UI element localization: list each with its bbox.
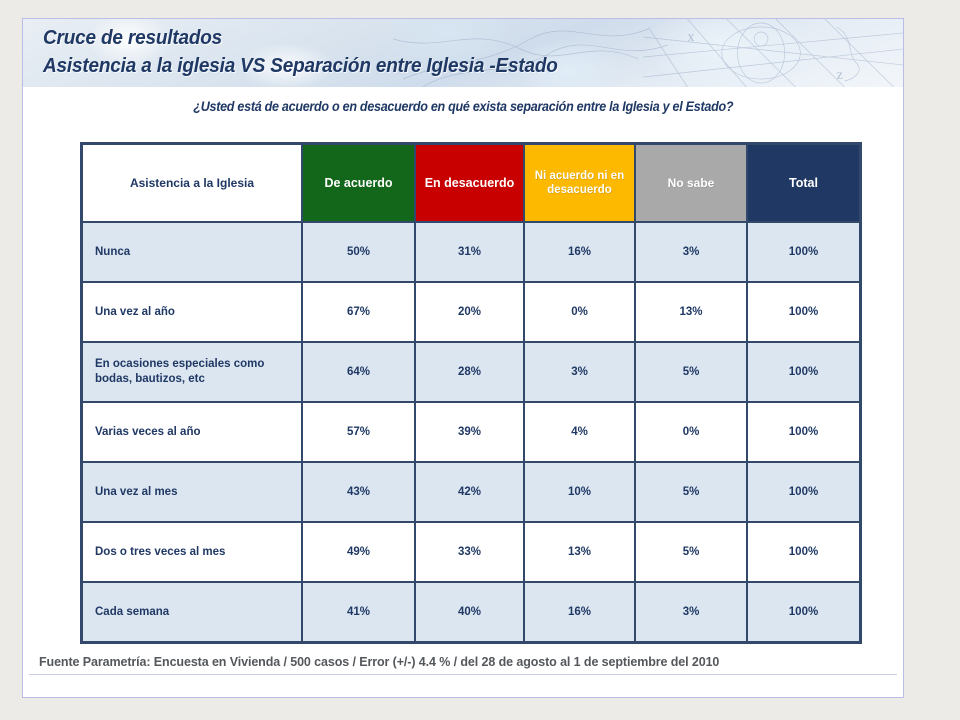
banner-title-line-2: Asistencia a la iglesia VS Separación en… <box>43 52 558 80</box>
cell-ni-acuerdo: 0% <box>524 282 635 342</box>
cell-no-sabe: 3% <box>635 582 747 642</box>
cell-de-acuerdo: 57% <box>302 402 415 462</box>
cell-en-desacuerdo: 39% <box>415 402 524 462</box>
table-header: Asistencia a la Iglesia De acuerdo En de… <box>82 144 860 222</box>
cell-de-acuerdo: 49% <box>302 522 415 582</box>
cell-total: 100% <box>747 582 860 642</box>
results-table-container: Asistencia a la Iglesia De acuerdo En de… <box>80 142 858 644</box>
cell-no-sabe: 5% <box>635 342 747 402</box>
cell-de-acuerdo: 64% <box>302 342 415 402</box>
cell-total: 100% <box>747 522 860 582</box>
survey-question-text: ¿Usted está de acuerdo o en desacuerdo e… <box>193 99 733 114</box>
cell-de-acuerdo: 43% <box>302 462 415 522</box>
cell-total: 100% <box>747 222 860 282</box>
column-header-no-sabe: No sabe <box>635 144 747 222</box>
cell-no-sabe: 0% <box>635 402 747 462</box>
cell-no-sabe: 5% <box>635 462 747 522</box>
row-label: Una vez al año <box>82 282 302 342</box>
table-row: Nunca 50% 31% 16% 3% 100% <box>82 222 860 282</box>
cell-de-acuerdo: 50% <box>302 222 415 282</box>
row-label: Cada semana <box>82 582 302 642</box>
row-label: Una vez al mes <box>82 462 302 522</box>
title-banner: x z Cruce de resultados Asistencia a la … <box>23 19 903 87</box>
cell-total: 100% <box>747 402 860 462</box>
table-row: Dos o tres veces al mes 49% 33% 13% 5% 1… <box>82 522 860 582</box>
table-header-row: Asistencia a la Iglesia De acuerdo En de… <box>82 144 860 222</box>
cell-ni-acuerdo: 16% <box>524 222 635 282</box>
cell-ni-acuerdo: 16% <box>524 582 635 642</box>
cell-no-sabe: 5% <box>635 522 747 582</box>
table-row: Varias veces al año 57% 39% 4% 0% 100% <box>82 402 860 462</box>
results-table: Asistencia a la Iglesia De acuerdo En de… <box>80 142 862 644</box>
table-row: Una vez al mes 43% 42% 10% 5% 100% <box>82 462 860 522</box>
cell-en-desacuerdo: 40% <box>415 582 524 642</box>
survey-question: ¿Usted está de acuerdo o en desacuerdo e… <box>23 99 903 114</box>
column-header-ni-acuerdo-ni-en-desacuerdo: Ni acuerdo ni en desacuerdo <box>524 144 635 222</box>
cell-en-desacuerdo: 28% <box>415 342 524 402</box>
cell-no-sabe: 3% <box>635 222 747 282</box>
cell-no-sabe: 13% <box>635 282 747 342</box>
cell-total: 100% <box>747 282 860 342</box>
cell-ni-acuerdo: 10% <box>524 462 635 522</box>
svg-text:x: x <box>687 30 694 45</box>
cell-en-desacuerdo: 33% <box>415 522 524 582</box>
column-header-en-desacuerdo: En desacuerdo <box>415 144 524 222</box>
banner-title-group: Cruce de resultados Asistencia a la igle… <box>43 24 585 80</box>
column-header-total: Total <box>747 144 860 222</box>
banner-title-line-1: Cruce de resultados <box>43 24 558 52</box>
row-label: Varias veces al año <box>82 402 302 462</box>
source-footnote: Fuente Parametría: Encuesta en Vivienda … <box>35 655 891 669</box>
cell-ni-acuerdo: 3% <box>524 342 635 402</box>
cell-total: 100% <box>747 462 860 522</box>
row-label: Nunca <box>82 222 302 282</box>
footer-divider <box>29 674 897 675</box>
cell-en-desacuerdo: 31% <box>415 222 524 282</box>
slide-canvas: x z Cruce de resultados Asistencia a la … <box>22 18 904 698</box>
row-label: En ocasiones especiales como bodas, baut… <box>82 342 302 402</box>
cell-ni-acuerdo: 13% <box>524 522 635 582</box>
cell-ni-acuerdo: 4% <box>524 402 635 462</box>
svg-text:z: z <box>836 68 842 83</box>
table-row: Una vez al año 67% 20% 0% 13% 100% <box>82 282 860 342</box>
cell-de-acuerdo: 67% <box>302 282 415 342</box>
table-row: En ocasiones especiales como bodas, baut… <box>82 342 860 402</box>
table-row: Cada semana 41% 40% 16% 3% 100% <box>82 582 860 642</box>
table-body: Nunca 50% 31% 16% 3% 100% Una vez al año… <box>82 222 860 642</box>
cell-en-desacuerdo: 42% <box>415 462 524 522</box>
cell-de-acuerdo: 41% <box>302 582 415 642</box>
row-label: Dos o tres veces al mes <box>82 522 302 582</box>
cell-total: 100% <box>747 342 860 402</box>
cell-en-desacuerdo: 20% <box>415 282 524 342</box>
column-header-asistencia: Asistencia a la Iglesia <box>82 144 302 222</box>
column-header-de-acuerdo: De acuerdo <box>302 144 415 222</box>
